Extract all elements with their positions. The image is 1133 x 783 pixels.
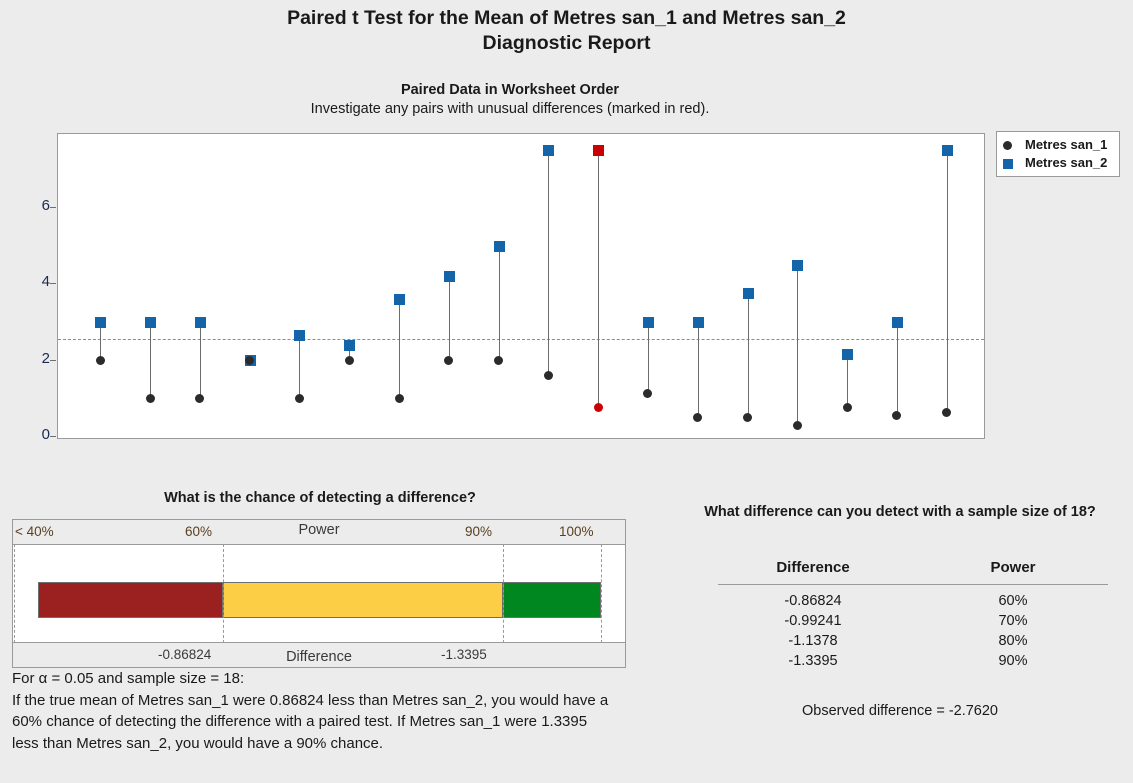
- data-point-circle: [843, 403, 852, 412]
- scatter-panel-subtitle: Investigate any pairs with unusual diffe…: [0, 100, 1020, 119]
- y-axis-tick-mark: [50, 436, 56, 437]
- data-point-square: [145, 317, 156, 328]
- data-point-circle: [793, 421, 802, 430]
- power-panel-title: What is the chance of detecting a differ…: [10, 490, 630, 506]
- pair-connector-line: [200, 322, 201, 398]
- data-point-circle: [96, 356, 105, 365]
- power-axis-label: Power: [13, 518, 625, 542]
- paired-data-plot: [57, 133, 985, 439]
- data-point-circle: [892, 411, 901, 420]
- explanation-text: For α = 0.05 and sample size = 18: If th…: [12, 668, 612, 754]
- table-rule: [718, 584, 1108, 585]
- explanation-line-1: For α = 0.05 and sample size = 18:: [12, 668, 612, 690]
- power-bar-panel: < 40%60%90%100%Power -0.86824-1.3395Diff…: [12, 519, 626, 668]
- data-point-flagged-square: [593, 145, 604, 156]
- data-point-square: [892, 317, 903, 328]
- data-point-circle: [195, 394, 204, 403]
- data-point-circle: [743, 413, 752, 422]
- table-cell: -0.86824: [718, 593, 908, 609]
- data-point-square: [95, 317, 106, 328]
- data-point-square: [444, 271, 455, 282]
- pair-connector-line: [698, 322, 699, 417]
- y-axis-tick-label: 6: [28, 197, 50, 214]
- table-column-header: Power: [918, 559, 1108, 576]
- y-axis-tick-label: 4: [28, 273, 50, 290]
- data-point-circle: [345, 356, 354, 365]
- table-cell: 80%: [918, 633, 1108, 649]
- table-cell: -1.3395: [718, 653, 908, 669]
- table-cell: 70%: [918, 613, 1108, 629]
- observed-difference: Observed difference = -2.7620: [660, 703, 1133, 719]
- data-point-square: [294, 330, 305, 341]
- pair-connector-line: [399, 299, 400, 398]
- pair-connector-line: [548, 151, 549, 376]
- data-point-square: [792, 260, 803, 271]
- data-point-flagged-circle: [594, 403, 603, 412]
- table-cell: 60%: [918, 593, 1108, 609]
- power-panel-header: < 40%60%90%100%Power: [13, 520, 625, 545]
- data-point-circle: [942, 408, 951, 417]
- plot-canvas: [58, 134, 984, 438]
- y-axis-tick-mark: [50, 360, 56, 361]
- data-point-circle: [693, 413, 702, 422]
- data-point-square: [942, 145, 953, 156]
- data-point-square: [394, 294, 405, 305]
- table-column-header: Difference: [718, 559, 908, 576]
- pair-connector-line: [449, 277, 450, 361]
- pair-connector-line: [299, 336, 300, 399]
- data-point-square: [743, 288, 754, 299]
- legend-item-label: Metres san_1: [1025, 136, 1107, 154]
- power-bar-segment-medium: [223, 582, 503, 618]
- pair-connector-line: [648, 322, 649, 393]
- legend-circle-icon: [1003, 141, 1012, 150]
- legend-item-label: Metres san_2: [1025, 154, 1107, 172]
- pair-connector-line: [499, 246, 500, 361]
- pair-connector-line: [150, 322, 151, 398]
- data-point-square: [543, 145, 554, 156]
- data-point-square: [195, 317, 206, 328]
- data-point-circle: [544, 371, 553, 380]
- power-gridline: [14, 544, 15, 643]
- power-gridline: [223, 544, 224, 643]
- pair-connector-line: [100, 322, 101, 360]
- reference-line: [58, 339, 984, 340]
- pair-connector-line: [598, 151, 599, 408]
- table-cell: -0.99241: [718, 613, 908, 629]
- y-axis-tick-mark: [50, 283, 56, 284]
- plot-legend: Metres san_1Metres san_2: [996, 131, 1120, 177]
- pair-connector-line: [748, 294, 749, 417]
- y-axis-tick-label: 0: [28, 426, 50, 443]
- data-point-square: [643, 317, 654, 328]
- power-gridline: [503, 544, 504, 643]
- data-point-square: [344, 340, 355, 351]
- table-cell: 90%: [918, 653, 1108, 669]
- report-title: Paired t Test for the Mean of Metres san…: [0, 6, 1133, 31]
- data-point-square: [494, 241, 505, 252]
- table-cell: -1.1378: [718, 633, 908, 649]
- data-point-circle: [295, 394, 304, 403]
- data-point-circle: [643, 389, 652, 398]
- legend-square-icon: [1003, 159, 1013, 169]
- difference-panel-title: What difference can you detect with a sa…: [660, 502, 1133, 523]
- power-gridline: [601, 544, 602, 643]
- data-point-circle: [146, 394, 155, 403]
- difference-axis-label: Difference: [13, 645, 625, 669]
- y-axis-tick-label: 2: [28, 350, 50, 367]
- data-point-circle: [444, 356, 453, 365]
- data-point-square: [693, 317, 704, 328]
- power-bar-segment-high: [503, 582, 601, 618]
- pair-connector-line: [847, 355, 848, 408]
- pair-connector-line: [947, 151, 948, 413]
- pair-connector-line: [897, 322, 898, 415]
- data-point-circle: [395, 394, 404, 403]
- y-axis-tick-mark: [50, 207, 56, 208]
- scatter-panel-title: Paired Data in Worksheet Order: [0, 81, 1020, 100]
- report-subtitle: Diagnostic Report: [0, 31, 1133, 56]
- explanation-line-2: If the true mean of Metres san_1 were 0.…: [12, 690, 612, 755]
- pair-connector-line: [797, 265, 798, 425]
- power-panel-footer: -0.86824-1.3395Difference: [13, 642, 625, 667]
- data-point-circle: [494, 356, 503, 365]
- data-point-square: [842, 349, 853, 360]
- power-bar-segment-low: [38, 582, 223, 618]
